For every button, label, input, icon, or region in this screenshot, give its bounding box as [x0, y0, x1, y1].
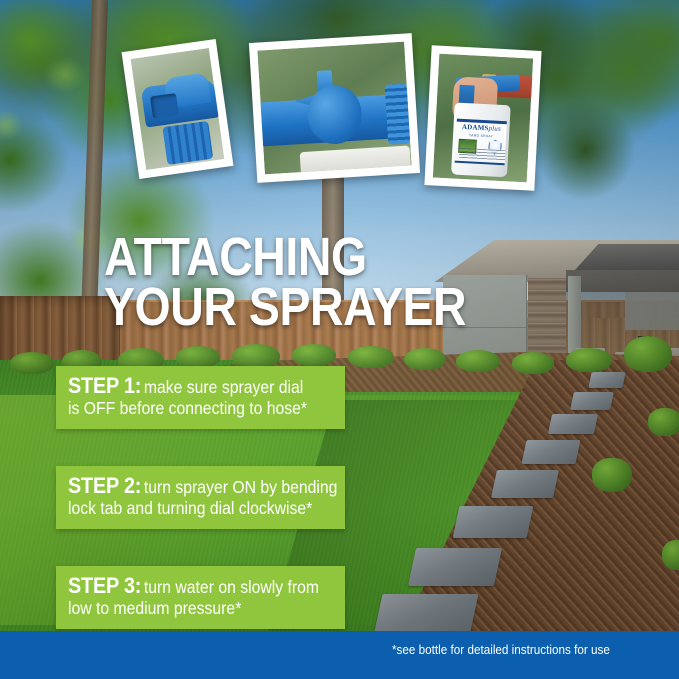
shrub	[512, 352, 554, 374]
infographic-poster: ADAMSplus YARD SPRAY ATTACHING YOUR SPRA…	[0, 0, 679, 679]
headline-line-2: YOUR SPRAYER	[104, 282, 466, 332]
stepping-stone	[408, 548, 502, 586]
stepping-stone	[570, 392, 614, 410]
photo-hand-holding-bottle: ADAMSplus YARD SPRAY	[433, 54, 533, 183]
footnote-text: *see bottle for detailed instructions fo…	[392, 642, 610, 657]
step-1-line-2: is OFF before connecting to hose*	[68, 398, 307, 419]
label-fine-print	[459, 148, 505, 160]
shrub-mulch-bed	[592, 458, 632, 492]
product-line2: SPRAY	[480, 134, 493, 139]
step-2-line-2: lock tab and turning dial clockwise*	[68, 498, 307, 519]
shrub	[292, 344, 336, 366]
step-3-label: STEP 3:	[68, 573, 141, 598]
stepping-stone	[453, 506, 534, 538]
product-bottle: ADAMSplus YARD SPRAY	[451, 103, 511, 178]
hose-connector-ring	[385, 84, 411, 145]
step-2-text-1: turn sprayer ON by bending	[144, 477, 337, 497]
step-1-label: STEP 1:	[68, 373, 141, 398]
shrub	[566, 348, 612, 372]
shrub	[404, 348, 446, 370]
stepping-stone	[521, 440, 580, 464]
shrub	[348, 346, 394, 368]
stepping-stone	[374, 594, 479, 636]
step-2-line-1: STEP 2:turn sprayer ON by bending	[68, 475, 307, 498]
photo-frame-sprayer-dial	[249, 33, 420, 183]
photo-frame-bottle-in-hand: ADAMSplus YARD SPRAY	[424, 45, 541, 191]
stepping-stone	[588, 372, 625, 388]
product-line1: YARD	[469, 133, 480, 138]
photo-sprayer-dial-lock-tab	[257, 42, 411, 175]
nozzle-ribbed-base	[162, 121, 213, 165]
shrub	[176, 346, 220, 368]
photo-collage: ADAMSplus YARD SPRAY	[0, 0, 679, 215]
photo-sprayer-nozzle-closeup	[131, 48, 225, 170]
stepping-stone	[548, 414, 598, 434]
shrub-mulch-bed	[662, 540, 679, 570]
step-2-label: STEP 2:	[68, 473, 141, 498]
brand-text: ADAMS	[462, 123, 489, 132]
step-3-line-2: low to medium pressure*	[68, 598, 307, 619]
step-2-box: STEP 2:turn sprayer ON by bending lock t…	[56, 466, 345, 529]
brand-suffix-text: plus	[488, 124, 501, 133]
step-1-line-1: STEP 1:make sure sprayer dial	[68, 375, 307, 398]
photo-frame-sprayer-nozzle	[122, 39, 234, 179]
shrub-mulch-bed	[648, 408, 679, 436]
nozzle-slot	[150, 93, 179, 118]
stepping-stone	[491, 470, 559, 498]
page-title: ATTACHING YOUR SPRAYER	[104, 232, 466, 332]
shrub	[456, 350, 500, 372]
brand-name: ADAMSplus	[456, 123, 506, 134]
step-3-box: STEP 3:turn water on slowly from low to …	[56, 566, 345, 629]
step-1-box: STEP 1:make sure sprayer dial is OFF bef…	[56, 366, 345, 429]
step-1-text-1: make sure sprayer dial	[144, 377, 303, 397]
shrub	[10, 352, 54, 374]
step-3-line-1: STEP 3:turn water on slowly from	[68, 575, 307, 598]
product-label: ADAMSplus YARD SPRAY	[455, 119, 507, 166]
shrub	[232, 344, 280, 368]
step-3-text-1: turn water on slowly from	[144, 577, 319, 597]
shrub	[624, 336, 672, 372]
